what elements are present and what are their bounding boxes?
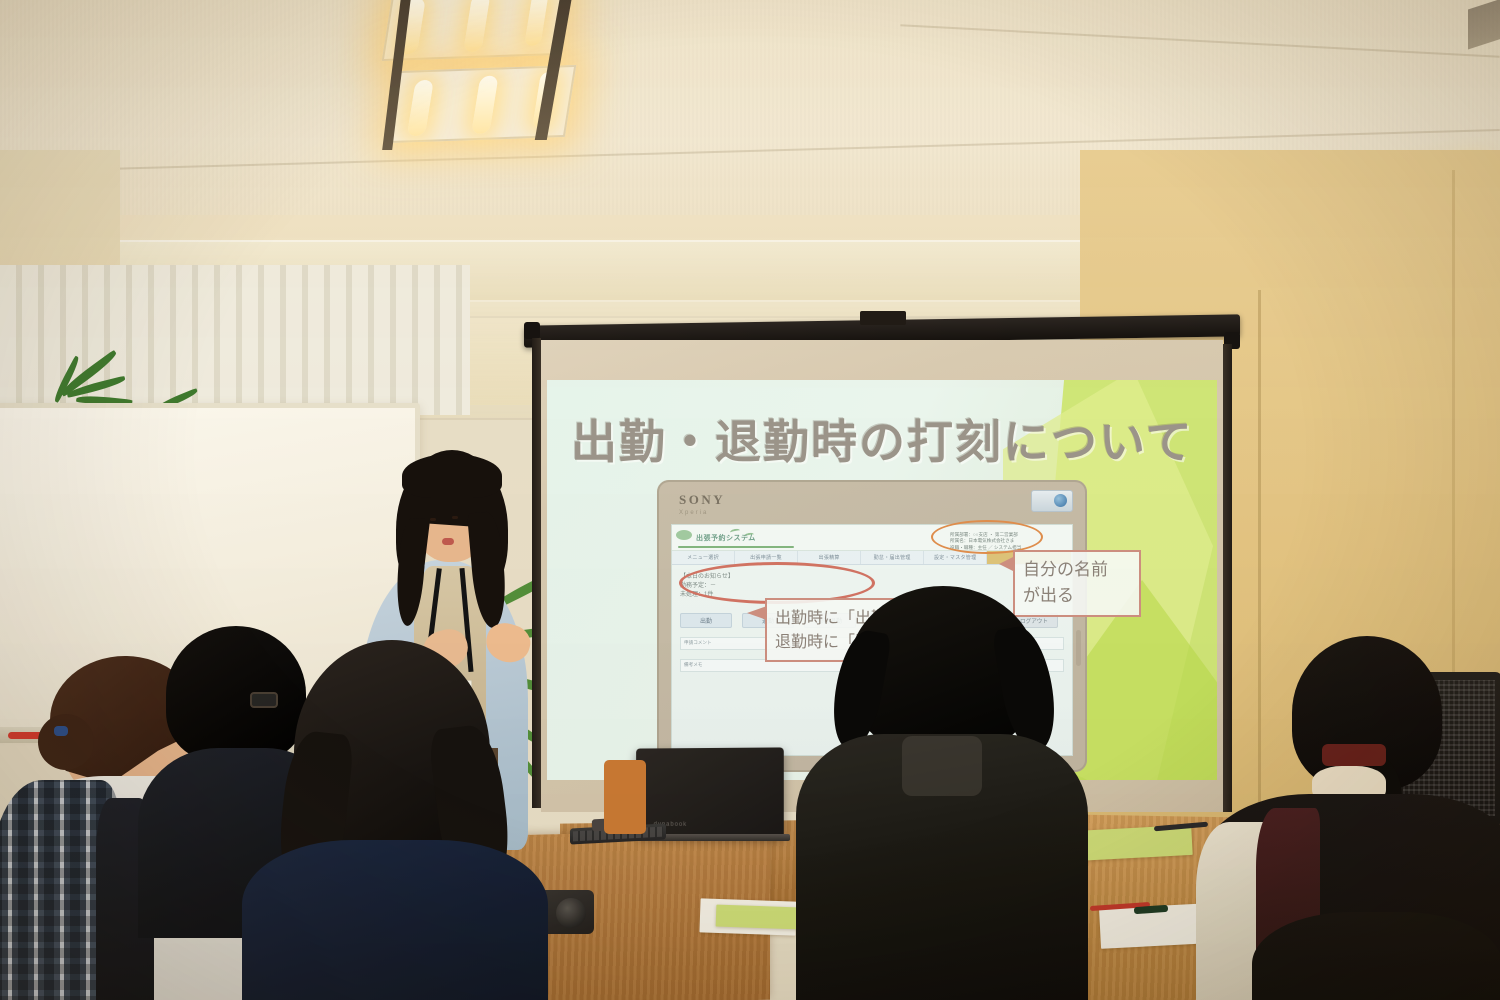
punch-in-button[interactable]: 出勤 [680, 613, 732, 628]
site-logo-underline [678, 546, 794, 548]
seminar-photo-scene: 出勤・退勤時の打刻について SONY Xperia 出張予約システム [0, 0, 1500, 1000]
nav-item[interactable]: 勤怠・届出管理 [861, 551, 924, 564]
slide-title: 出勤・退勤時の打刻について [571, 406, 1194, 472]
tablet-sub-label: Xperia [679, 510, 708, 516]
attendee-3-cardigan [242, 840, 548, 1000]
field-label: 備考メモ [684, 662, 702, 668]
hair-tie [54, 726, 68, 736]
ceiling-light-fixture [382, 0, 571, 61]
attendee-1-hair-bun [38, 714, 94, 770]
callout-tail [999, 556, 1015, 572]
site-logo: 出張予約システム [696, 533, 756, 543]
attendee-4 [790, 586, 1090, 1000]
field-label: 申請コメント [684, 640, 712, 646]
attendee-5-chair-back [1252, 912, 1500, 1000]
presenter-eye [430, 518, 436, 521]
attendee-4-collar [902, 736, 982, 796]
annotation-ellipse-name [931, 520, 1043, 554]
chair-back [604, 760, 646, 834]
hair-tie [1322, 744, 1386, 766]
green-handout [716, 905, 801, 930]
attendee-3 [252, 640, 552, 1000]
camera-lens-icon [556, 898, 586, 928]
presenter-eye [452, 516, 458, 519]
callout-tail [747, 606, 767, 620]
attendee-5 [1218, 636, 1500, 1000]
screen-mount-bracket [860, 311, 906, 325]
tablet-camera-lens-icon [1054, 494, 1067, 507]
presenter-hair-top [402, 454, 502, 498]
wall-seam [1452, 170, 1455, 690]
nav-item[interactable]: メニュー選択 [672, 551, 735, 564]
tablet-brand-label: SONY [679, 492, 725, 508]
presenter-mouth [442, 538, 454, 545]
screen-bar-cap [524, 322, 540, 339]
cloud-icon [676, 530, 692, 540]
